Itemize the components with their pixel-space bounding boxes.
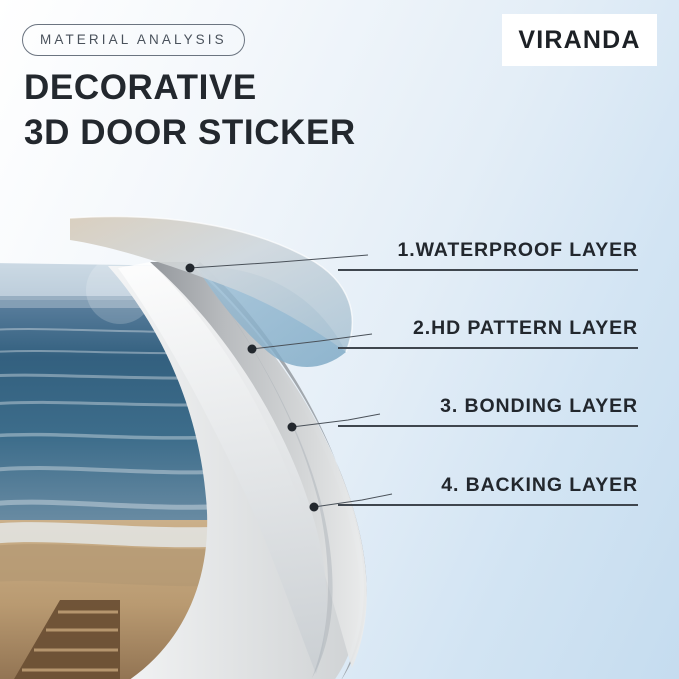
title-line-2: 3D DOOR STICKER [24,111,356,156]
layer-label-4: 4. BACKING LAYER [338,474,638,504]
layer-underline-2 [338,347,638,349]
title-line-1: DECORATIVE [24,66,356,111]
page-title: DECORATIVE 3D DOOR STICKER [24,66,356,156]
eyebrow-text: MATERIAL ANALYSIS [40,32,227,47]
layer-underline-1 [338,269,638,271]
layer-callout-1: 1.WATERPROOF LAYER [338,239,638,271]
layer-callout-4: 4. BACKING LAYER [338,474,638,506]
eyebrow-badge: MATERIAL ANALYSIS [22,24,245,56]
brand-name: VIRANDA [518,26,640,55]
material-analysis-infographic: MATERIAL ANALYSIS DECORATIVE 3D DOOR STI… [0,0,679,679]
layer-label-3: 3. BONDING LAYER [338,395,638,425]
layer-callout-3: 3. BONDING LAYER [338,395,638,427]
layer-callout-2: 2.HD PATTERN LAYER [338,317,638,349]
layer-underline-3 [338,425,638,427]
layer-underline-4 [338,504,638,506]
brand-logo-box: VIRANDA [502,14,657,66]
layer-label-1: 1.WATERPROOF LAYER [338,239,638,269]
layer-label-2: 2.HD PATTERN LAYER [338,317,638,347]
